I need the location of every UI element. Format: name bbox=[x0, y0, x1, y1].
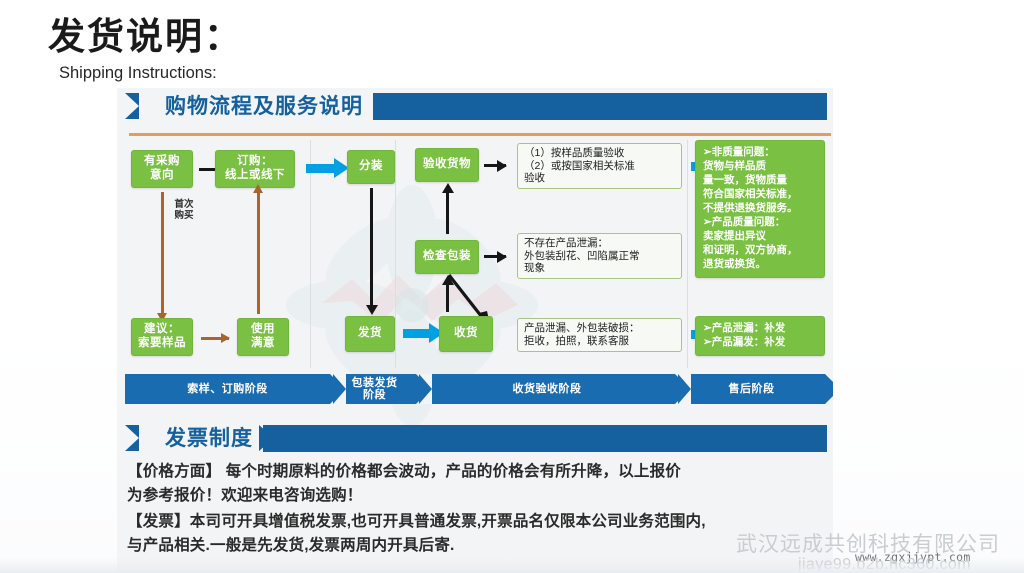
flow-box-repackaging[interactable]: 分装 bbox=[347, 150, 395, 184]
arrow-order-to-packing bbox=[306, 164, 334, 173]
arrow-first-purchase-down bbox=[161, 192, 164, 314]
stage-packing-shipping[interactable]: 包装发货 阶段 bbox=[333, 374, 416, 404]
flow-box-label: 订购： 线上或线下 bbox=[225, 155, 285, 182]
invoice-line-1: 【价格方面】 每个时期原料的价格都会波动，产品的价格会有所升降，以上报价 bbox=[127, 460, 833, 484]
header-left-chevron-icon bbox=[125, 425, 139, 451]
flow-box-label: 使用 满意 bbox=[251, 323, 275, 350]
label-first-purchase: 首次 购买 bbox=[169, 200, 199, 222]
flow-box-label: 收货 bbox=[454, 327, 478, 341]
section1-title: 购物流程及服务说明 bbox=[161, 92, 373, 121]
stage-label: 收货验收阶段 bbox=[513, 383, 582, 395]
stage-ribbon: 索样、订购阶段 包装发货 阶段 收货验收阶段 售后阶段 bbox=[125, 374, 825, 404]
arrow-check-to-leak-note bbox=[484, 255, 506, 258]
section2-title: 发票制度 bbox=[161, 424, 263, 453]
flow-box-check-packaging[interactable]: 检查包装 bbox=[415, 240, 479, 274]
note-acceptance-criteria: （1）按样品质量验收 （2）或按国家相关标准 验收 bbox=[517, 143, 682, 189]
stage-notch-icon bbox=[333, 374, 346, 404]
header-left-chevron-icon bbox=[125, 93, 139, 119]
flow-box-receive-goods[interactable]: 收货 bbox=[439, 316, 493, 352]
page-title: 发货说明： bbox=[48, 6, 243, 60]
invoice-line-3: 【发票】本司可开具增值税发票,也可开具普通发票,开票品名仅限本公司业务范围内, bbox=[127, 510, 833, 534]
invoice-policy-text: 【价格方面】 每个时期原料的价格都会波动，产品的价格会有所升降，以上报价 为参考… bbox=[127, 460, 833, 557]
column-divider-2 bbox=[395, 140, 396, 368]
flow-box-order-online-offline[interactable]: 订购： 线上或线下 bbox=[215, 150, 295, 188]
flow-box-label: 建议： 索要样品 bbox=[138, 323, 186, 350]
flow-box-label: 分装 bbox=[359, 160, 383, 174]
flow-box-use-satisfied[interactable]: 使用 满意 bbox=[237, 318, 289, 356]
invoice-line-2: 为参考报价！欢迎来电咨询选购！ bbox=[127, 484, 833, 508]
outcome-quality-policy: ➢非质量问题： 货物与样品质 量一致，货物质量 符合国家相关标准， 不提供退换货… bbox=[695, 140, 825, 278]
header-bar bbox=[185, 425, 827, 452]
slide-canvas: 发货说明： Shipping Instructions: bbox=[0, 0, 1024, 573]
section-header-shopping-process: 购物流程及服务说明 bbox=[125, 92, 827, 122]
page-subtitle: Shipping Instructions: bbox=[59, 64, 217, 83]
section-header-invoice-policy: 发票制度 bbox=[125, 424, 827, 454]
outcome-reship-policy: ➢产品泄漏：补发 ➢产品漏发：补发 bbox=[695, 316, 825, 356]
flow-box-request-sample[interactable]: 建议： 索要样品 bbox=[131, 318, 193, 356]
orange-divider bbox=[129, 133, 831, 136]
header-arrow-right-icon bbox=[259, 425, 274, 451]
arrow-packing-to-shipping bbox=[370, 188, 373, 306]
flow-box-label: 检查包装 bbox=[423, 250, 471, 264]
note-no-leak-normal: 不存在产品泄漏： 外包装刮花、凹陷属正常 现象 bbox=[517, 233, 682, 279]
stage-sample-order[interactable]: 索样、订购阶段 bbox=[125, 374, 330, 404]
bottom-gradient bbox=[0, 557, 1024, 573]
arrow-ship-to-receive bbox=[403, 329, 429, 338]
flow-box-goods-inspection[interactable]: 验收货物 bbox=[415, 148, 479, 182]
stage-notch-icon bbox=[678, 374, 691, 404]
shipping-graphic-card: 购物流程及服务说明 有采购 意向 订购： 线上或线下 分装 验收货物 （1）按样… bbox=[117, 88, 833, 573]
flow-box-ship-goods[interactable]: 发货 bbox=[345, 316, 395, 352]
outcome-text: ➢非质量问题： 货物与样品质 量一致，货物质量 符合国家相关标准， 不提供退换货… bbox=[703, 146, 798, 270]
stage-label: 包装发货 阶段 bbox=[352, 377, 398, 401]
note-text: 产品泄漏、外包装破损： 拒收，拍照，联系客服 bbox=[524, 322, 640, 348]
arrow-check-to-inspection bbox=[446, 192, 449, 234]
arrow-receive-to-check bbox=[446, 284, 449, 312]
column-divider-1 bbox=[310, 140, 311, 368]
arrow-sample-to-satisfied bbox=[201, 337, 229, 340]
note-damaged-package-action: 产品泄漏、外包装破损： 拒收，拍照，联系客服 bbox=[517, 318, 682, 352]
arrow-satisfied-up bbox=[257, 192, 260, 314]
stage-label: 索样、订购阶段 bbox=[187, 383, 268, 395]
stage-tip-icon bbox=[825, 374, 833, 404]
stage-after-sales[interactable]: 售后阶段 bbox=[678, 374, 825, 404]
stage-receive-accept[interactable]: 收货验收阶段 bbox=[419, 374, 675, 404]
arrow-inspection-to-criteria bbox=[484, 164, 506, 167]
flow-box-label: 发货 bbox=[358, 327, 382, 341]
flow-box-label: 验收货物 bbox=[423, 158, 471, 172]
note-text: （1）按样品质量验收 （2）或按国家相关标准 验收 bbox=[524, 147, 635, 185]
flow-box-label: 有采购 意向 bbox=[144, 155, 180, 182]
stage-label: 售后阶段 bbox=[729, 383, 775, 395]
column-divider-3 bbox=[687, 140, 688, 368]
invoice-line-4: 与产品相关.一般是先发货,发票两周内开具后寄. bbox=[127, 534, 833, 558]
header-arrow-right-icon bbox=[389, 93, 404, 119]
note-text: 不存在产品泄漏： 外包装刮花、凹陷属正常 现象 bbox=[524, 237, 640, 275]
outcome-text: ➢产品泄漏：补发 ➢产品漏发：补发 bbox=[703, 322, 785, 348]
stage-notch-icon bbox=[419, 374, 432, 404]
flow-box-purchase-intent[interactable]: 有采购 意向 bbox=[131, 150, 193, 188]
